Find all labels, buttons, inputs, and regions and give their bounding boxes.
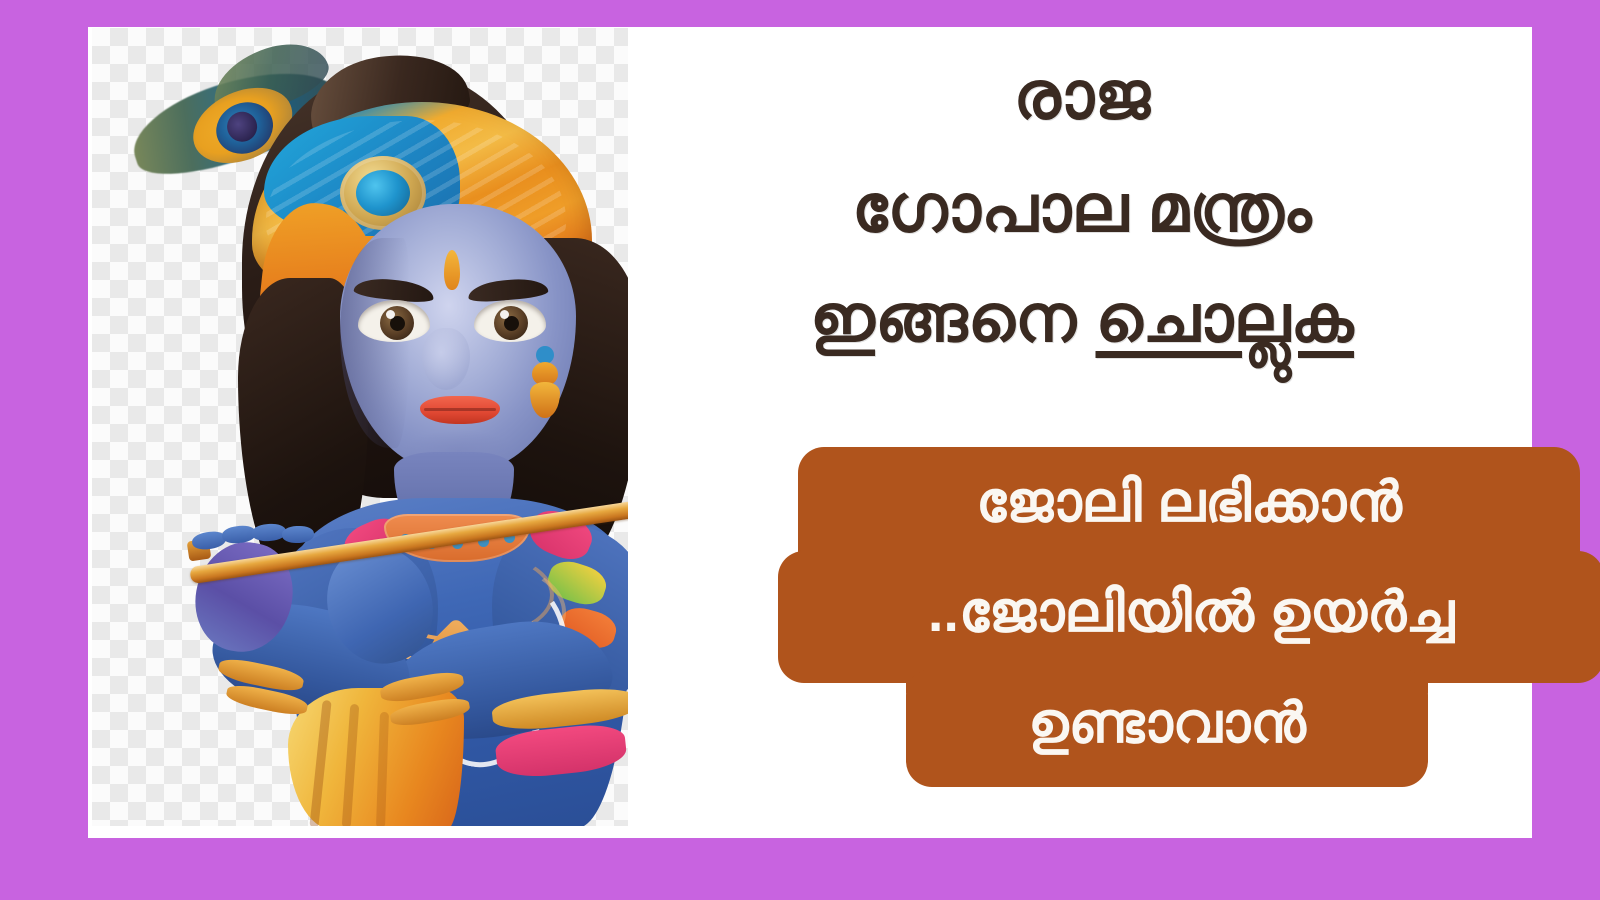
headline-line-3: ഇങ്ങനെ ചൊല്ലുക — [632, 280, 1532, 357]
headline-block: രാജ ഗോപാല മന്ത്രം ഇങ്ങനെ ചൊല്ലുക — [632, 37, 1532, 357]
benefit-row-1: ജോലി ലഭിക്കാൻ — [798, 447, 1580, 565]
eye-glint-right — [500, 310, 509, 319]
lip-line — [424, 408, 496, 411]
headline-line-2: ഗോപാല മന്ത്രം — [632, 170, 1532, 247]
benefit-row-2: ..ജോലിയിൽ ഉയർച്ച — [778, 551, 1600, 683]
krishna-illustration-image — [92, 28, 628, 826]
tilak-mark — [444, 250, 460, 290]
thumbnail-canvas: രാജ ഗോപാല മന്ത്രം ഇങ്ങനെ ചൊല്ലുക ജോലി ലഭ… — [0, 0, 1600, 900]
turban-jewel-stone — [356, 170, 410, 216]
headline-line-1: രാജ — [632, 57, 1532, 134]
headline-emphasis-word: ചൊല്ലുക — [1096, 281, 1355, 355]
eye-glint-left — [386, 310, 395, 319]
text-column: രാജ ഗോപാല മന്ത്രം ഇങ്ങനെ ചൊല്ലുക ജോലി ലഭ… — [632, 27, 1532, 838]
benefit-row-3: ഉണ്ടാവാൻ — [906, 669, 1428, 787]
headline-line-3-prefix: ഇങ്ങനെ — [810, 281, 1096, 355]
content-card: രാജ ഗോപാല മന്ത്രം ഇങ്ങനെ ചൊല്ലുക ജോലി ലഭ… — [88, 27, 1532, 838]
benefit-callout-panel: ജോലി ലഭിക്കാൻ ..ജോലിയിൽ ഉയർച്ച ഉണ്ടാവാൻ — [632, 447, 1532, 792]
